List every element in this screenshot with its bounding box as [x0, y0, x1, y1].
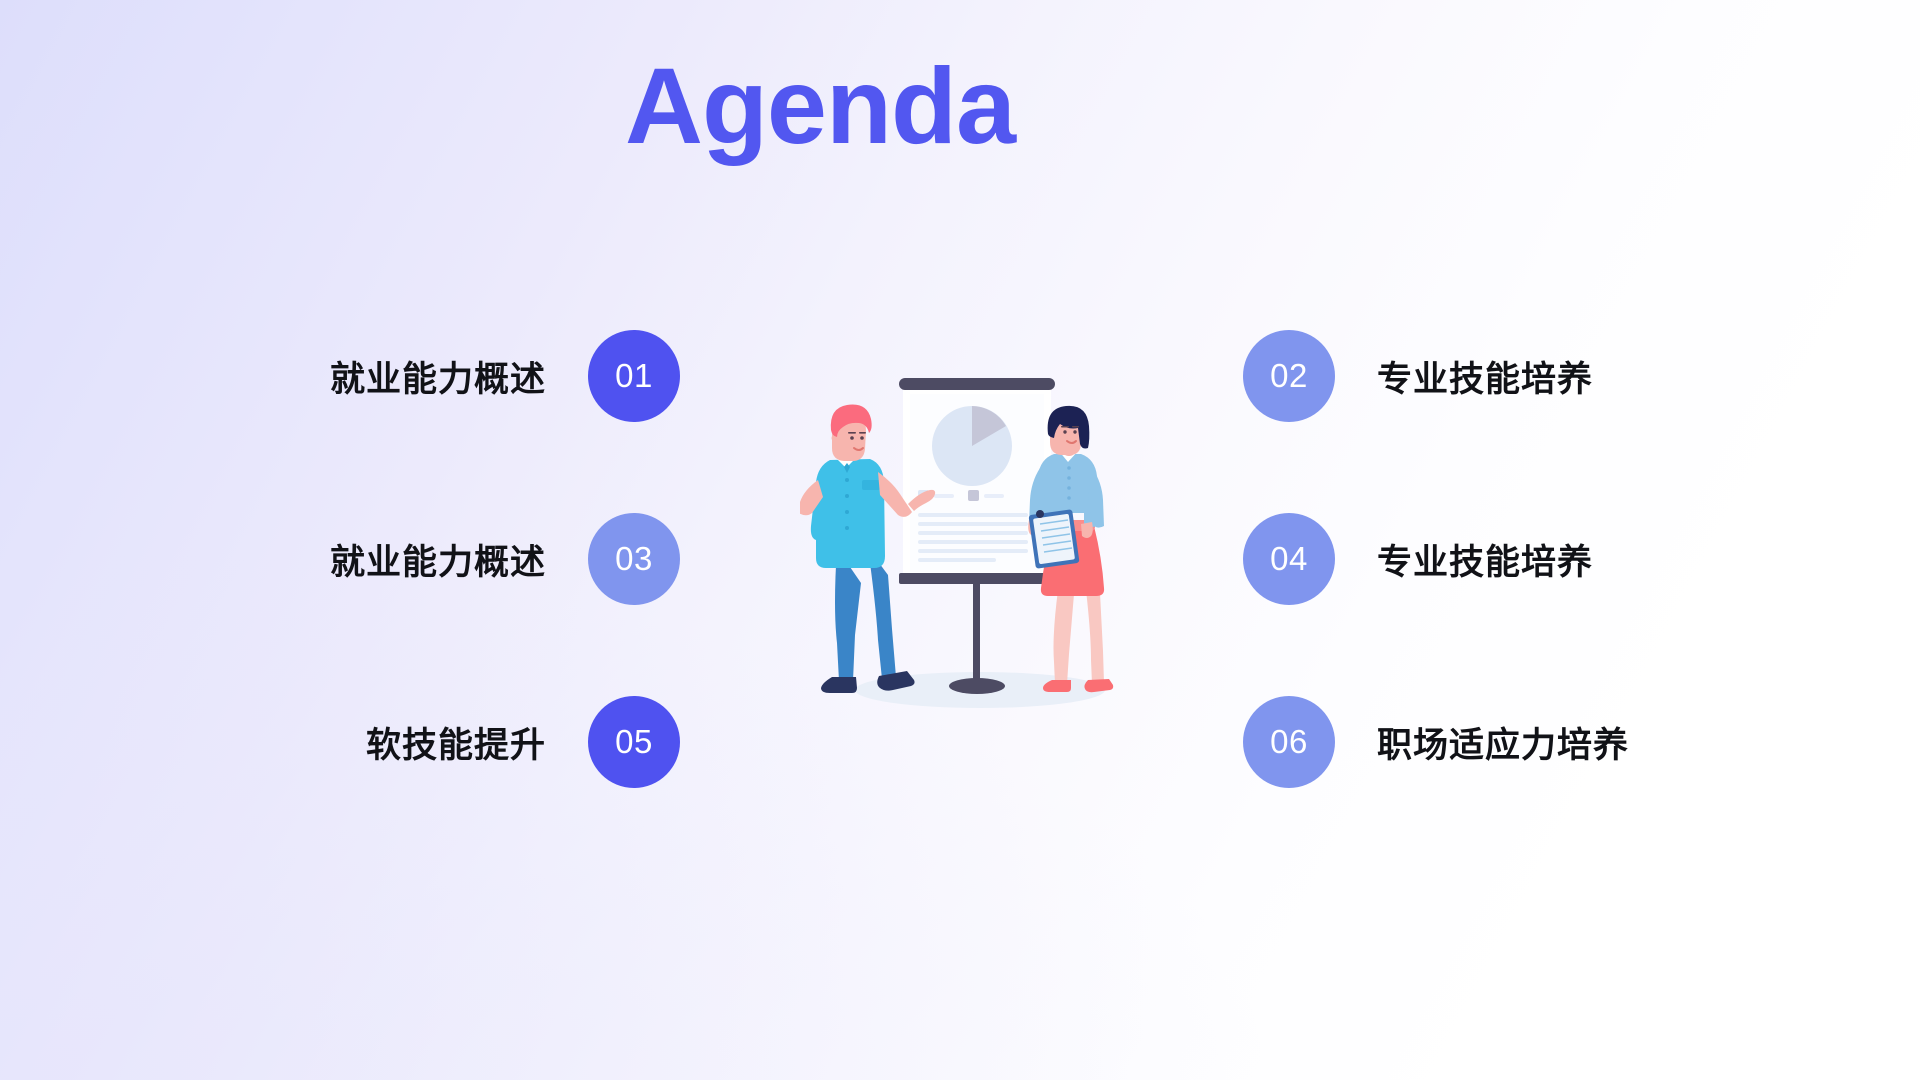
agenda-item-04-label: 专业技能培养 — [1377, 534, 1593, 585]
agenda-item-06-label: 职场适应力培养 — [1377, 717, 1629, 768]
agenda-item-05[interactable]: 软技能提升 05 — [0, 696, 680, 788]
agenda-item-02-label: 专业技能培养 — [1377, 351, 1593, 402]
agenda-item-01-number: 01 — [588, 330, 680, 422]
agenda-item-02[interactable]: 02 专业技能培养 — [1243, 330, 1903, 422]
agenda-item-06-number: 06 — [1243, 696, 1335, 788]
agenda-item-01-label: 就业能力概述 — [330, 351, 546, 402]
agenda-item-06[interactable]: 06 职场适应力培养 — [1243, 696, 1903, 788]
agenda-item-05-label: 软技能提升 — [366, 717, 546, 768]
agenda-item-03-label: 就业能力概述 — [330, 534, 546, 585]
agenda-item-03[interactable]: 就业能力概述 03 — [0, 513, 680, 605]
agenda-item-04-number: 04 — [1243, 513, 1335, 605]
agenda-item-04[interactable]: 04 专业技能培养 — [1243, 513, 1903, 605]
agenda-item-05-number: 05 — [588, 696, 680, 788]
agenda-slide: Agenda — [0, 0, 1920, 1080]
agenda-item-02-number: 02 — [1243, 330, 1335, 422]
agenda-item-01[interactable]: 就业能力概述 01 — [0, 330, 680, 422]
agenda-grid: 就业能力概述 01 就业能力概述 03 软技能提升 05 02 专业技能培养 0… — [0, 0, 1920, 1080]
agenda-item-03-number: 03 — [588, 513, 680, 605]
